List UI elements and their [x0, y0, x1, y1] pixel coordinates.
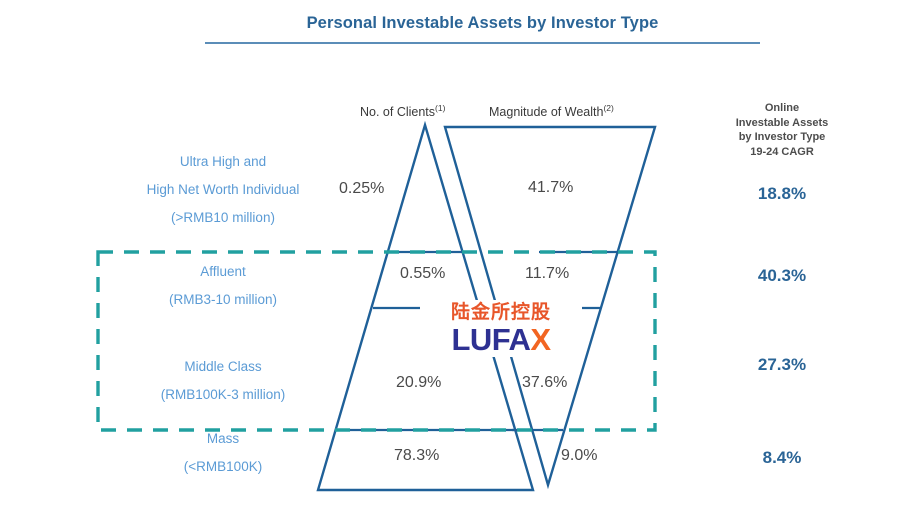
clients-pct-mass: 78.3%	[394, 447, 439, 465]
wealth-pct-affluent: 11.7%	[525, 265, 569, 283]
lufax-logo-latin-accent: X	[530, 322, 550, 357]
clients-pct-affluent: 0.55%	[400, 265, 445, 283]
infographic-page: Personal Investable Assets by Investor T…	[0, 0, 907, 508]
lufax-logo-latin-main: LUFA	[451, 322, 530, 357]
lufax-logo-chinese: 陆金所控股	[420, 302, 582, 323]
lufax-logo-latin: LUFAX	[420, 323, 582, 356]
funnel-diagram	[0, 0, 907, 508]
cagr-value-middle-class: 27.3%	[706, 355, 858, 375]
lufax-logo: 陆金所控股 LUFAX	[420, 300, 582, 357]
clients-pct-middle-class: 20.9%	[396, 374, 441, 392]
wealth-pct-middle-class: 37.6%	[522, 374, 567, 392]
clients-pct-ultra-high: 0.25%	[339, 180, 384, 198]
wealth-pct-mass: 9.0%	[561, 447, 597, 465]
wealth-pct-ultra-high: 41.7%	[528, 179, 573, 197]
cagr-value-affluent: 40.3%	[706, 266, 858, 286]
cagr-value-mass: 8.4%	[706, 448, 858, 468]
cagr-value-ultra-high: 18.8%	[706, 184, 858, 204]
